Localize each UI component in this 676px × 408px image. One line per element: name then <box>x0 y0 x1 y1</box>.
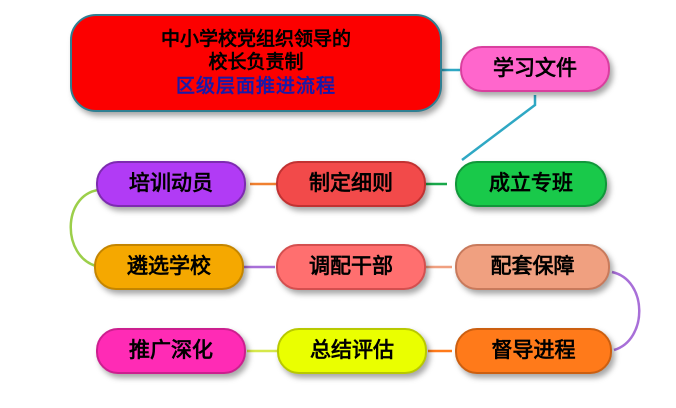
node-label: 总结评估 <box>310 338 394 364</box>
connector-support-to-supervise <box>612 272 639 350</box>
node-label: 配套保障 <box>491 254 575 280</box>
node-assign-cadres[interactable]: 调配干部 <box>276 244 426 290</box>
node-select-schools[interactable]: 遴选学校 <box>94 244 244 290</box>
node-evaluate[interactable]: 总结评估 <box>277 328 427 374</box>
title-line-3: 区级层面推进流程 <box>176 75 336 98</box>
node-support[interactable]: 配套保障 <box>455 244 610 290</box>
node-label: 成立专班 <box>489 171 573 197</box>
title-line-2: 校长负责制 <box>208 51 303 74</box>
node-label: 制定细则 <box>309 171 393 197</box>
node-label: 培训动员 <box>129 171 213 197</box>
node-study-docs[interactable]: 学习文件 <box>460 46 610 92</box>
node-label: 调配干部 <box>309 254 393 280</box>
node-training[interactable]: 培训动员 <box>96 161 246 207</box>
node-label: 学习文件 <box>493 56 577 82</box>
node-task-force[interactable]: 成立专班 <box>455 161 607 207</box>
title-box[interactable]: 中小学校党组织领导的 校长负责制 区级层面推进流程 <box>70 14 442 112</box>
connector-training-to-select <box>71 190 98 266</box>
node-label: 推广深化 <box>129 338 213 364</box>
node-label: 遴选学校 <box>127 254 211 280</box>
node-supervise[interactable]: 督导进程 <box>455 328 612 374</box>
title-line-1: 中小学校党组织领导的 <box>161 28 351 51</box>
node-label: 督导进程 <box>492 338 576 364</box>
node-rules[interactable]: 制定细则 <box>276 161 426 207</box>
node-promote[interactable]: 推广深化 <box>96 328 246 374</box>
connector-study-to-taskforce <box>462 95 535 160</box>
diagram-canvas: 中小学校党组织领导的 校长负责制 区级层面推进流程 学习文件 培训动员 制定细则… <box>0 0 676 408</box>
